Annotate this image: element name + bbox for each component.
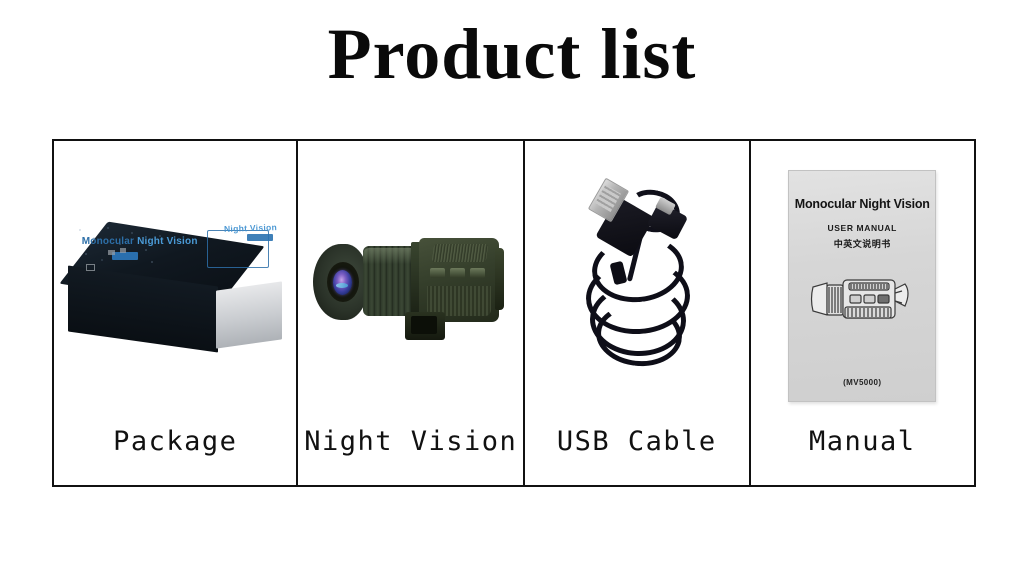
usb-cable-illustration bbox=[525, 141, 749, 426]
product-list-page: Product list Night Vision Monocular Nigh… bbox=[0, 0, 1024, 575]
manual-subtitle: USER MANUAL bbox=[789, 223, 935, 233]
manual-device-svg bbox=[807, 271, 919, 329]
box-side-mark-3 bbox=[86, 264, 95, 271]
device-button-1 bbox=[430, 268, 445, 278]
product-grid: Night Vision Monocular Night Vision Pack… bbox=[52, 139, 976, 487]
product-caption-night-vision: Night Vision bbox=[298, 426, 523, 485]
page-title: Product list bbox=[0, 18, 1024, 90]
product-cell-package[interactable]: Night Vision Monocular Night Vision Pack… bbox=[54, 141, 298, 485]
box-front-brand-rest: Night Vision bbox=[134, 236, 198, 247]
manual-illustration: Monocular Night Vision USER MANUAL 中英文说明… bbox=[751, 141, 975, 426]
box-front-brand: Monocular Night Vision bbox=[82, 236, 198, 247]
package-illustration: Night Vision Monocular Night Vision bbox=[54, 141, 296, 426]
device-button-3 bbox=[470, 268, 485, 278]
box-front-brand-prefix: Monocular bbox=[82, 236, 134, 247]
product-box-icon: Night Vision Monocular Night Vision bbox=[68, 220, 283, 355]
box-top-badge bbox=[247, 234, 273, 241]
product-caption-package: Package bbox=[54, 426, 296, 485]
monocular-illustration bbox=[298, 141, 523, 426]
body-grille bbox=[431, 244, 488, 262]
product-caption-manual: Manual bbox=[751, 426, 975, 485]
manual-device-drawing bbox=[807, 271, 919, 329]
device-button-2 bbox=[450, 268, 465, 278]
monocular-device-icon bbox=[311, 226, 511, 341]
manual-title: Monocular Night Vision bbox=[789, 197, 935, 211]
tripod-mount-inner bbox=[411, 316, 437, 334]
objective-lens bbox=[333, 270, 352, 295]
box-front-badge bbox=[112, 252, 138, 260]
box-side-mark-2 bbox=[120, 248, 126, 253]
manual-chinese-text: 中英文说明书 bbox=[789, 237, 935, 250]
body-rear-edge bbox=[495, 248, 504, 310]
box-side-face bbox=[216, 281, 282, 348]
product-cell-usb-cable[interactable]: USB Cable bbox=[525, 141, 751, 485]
box-side-mark-1 bbox=[108, 250, 115, 255]
usb-cable-icon bbox=[562, 176, 712, 391]
product-cell-night-vision[interactable]: Night Vision bbox=[298, 141, 525, 485]
focus-ring-highlight bbox=[363, 248, 415, 264]
user-manual-icon: Monocular Night Vision USER MANUAL 中英文说明… bbox=[788, 170, 936, 402]
box-top-brand: Night Vision bbox=[224, 222, 277, 234]
product-caption-usb-cable: USB Cable bbox=[525, 426, 749, 485]
product-cell-manual[interactable]: Monocular Night Vision USER MANUAL 中英文说明… bbox=[751, 141, 975, 485]
manual-model-code: (MV5000) bbox=[789, 378, 935, 387]
